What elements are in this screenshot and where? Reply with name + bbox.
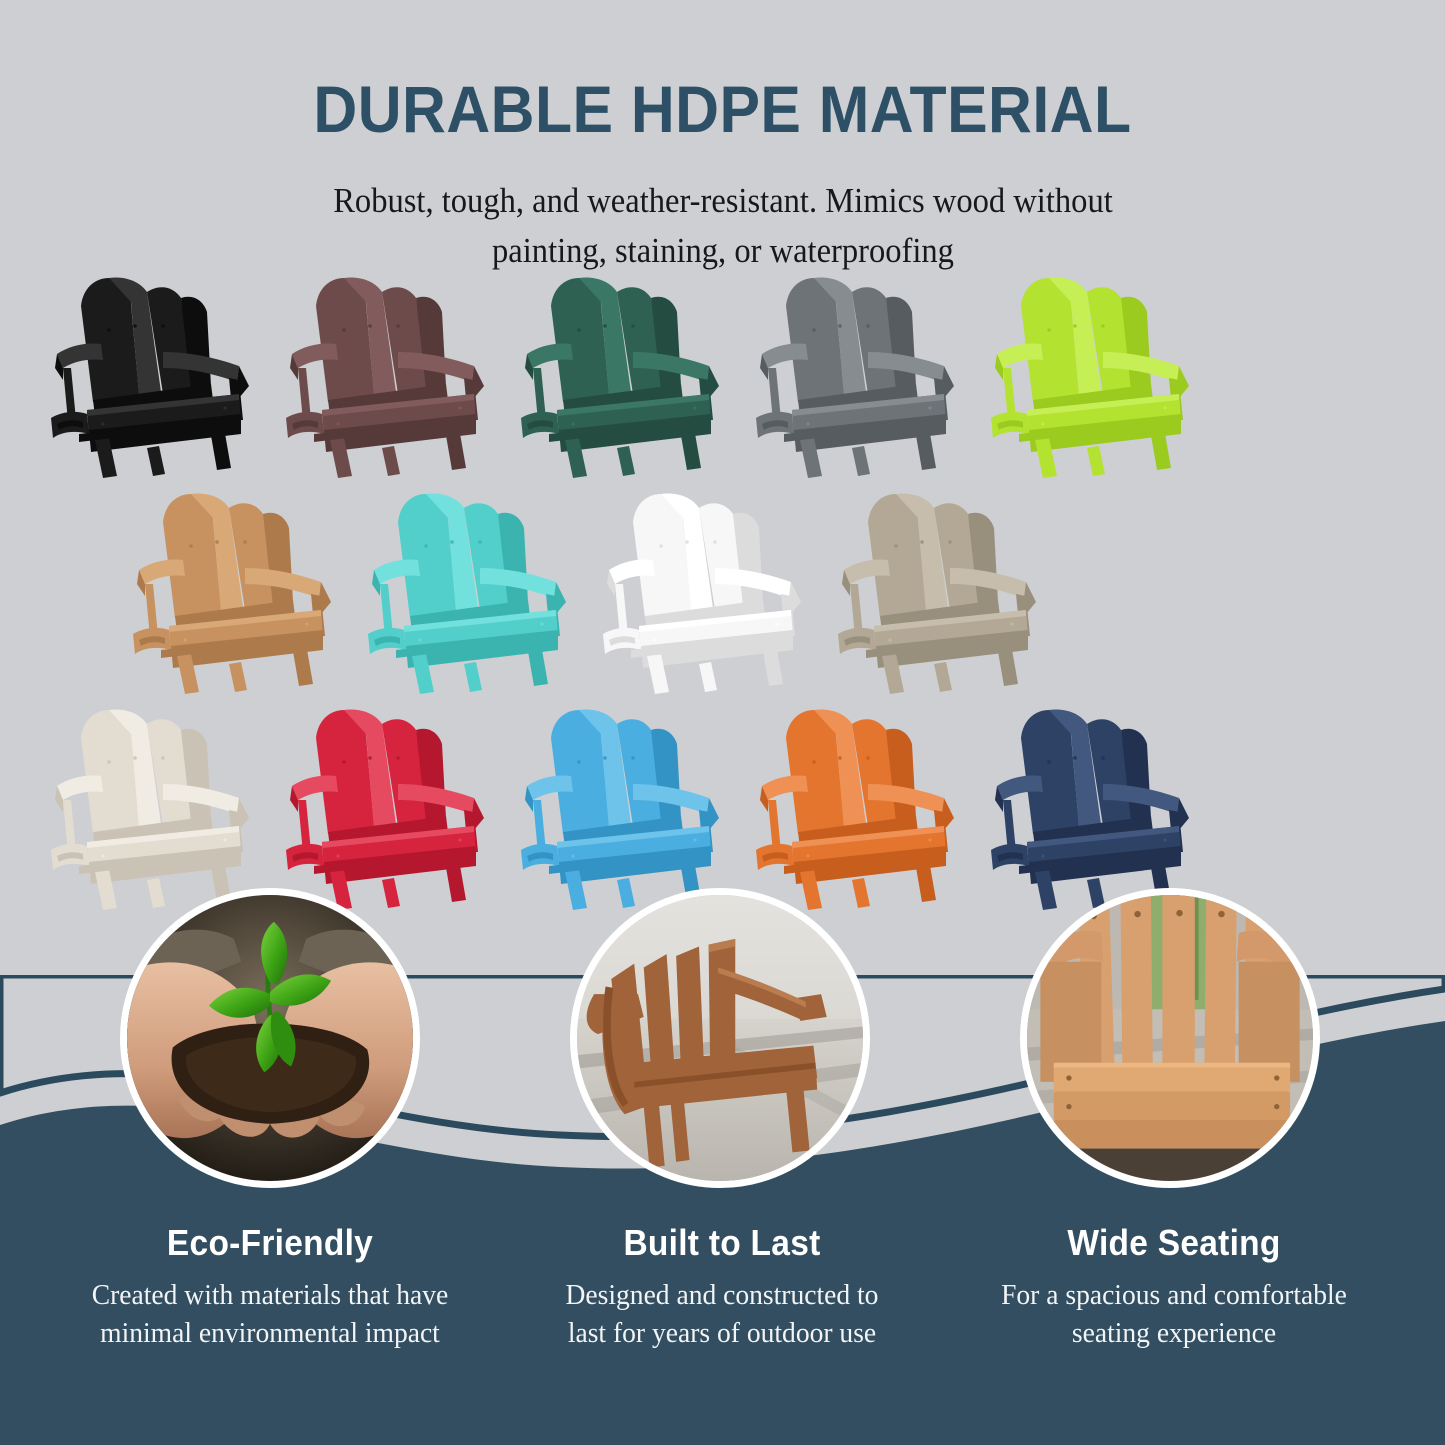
feature-description-line-2: last for years of outdoor use xyxy=(499,1314,946,1352)
infographic-canvas: DURABLE HDPE MATERIAL Robust, tough, and… xyxy=(0,0,1445,1445)
swatch-row-2 xyxy=(0,484,1445,696)
feature-title: Eco-Friendly xyxy=(51,1222,488,1264)
chair-illustration xyxy=(830,484,1045,696)
chair-illustration xyxy=(43,700,258,912)
brown-chair-photo-icon xyxy=(577,895,863,1181)
chair-swatch-navy-blue[interactable] xyxy=(983,700,1198,912)
feature-image-built-to-last xyxy=(570,888,870,1188)
feature-title: Wide Seating xyxy=(955,1222,1392,1264)
swatch-row-3 xyxy=(0,700,1445,912)
feature-title: Built to Last xyxy=(503,1222,940,1264)
chair-illustration xyxy=(125,484,340,696)
chair-illustration xyxy=(748,700,963,912)
chair-illustration xyxy=(360,484,575,696)
swatch-row-1 xyxy=(0,268,1445,480)
chair-illustration xyxy=(748,268,963,480)
feature-description-line-1: Designed and constructed to xyxy=(499,1276,946,1314)
feature-caption-row: Eco-Friendly Created with materials that… xyxy=(0,1222,1445,1422)
feature-description: Created with materials that have minimal… xyxy=(47,1276,494,1353)
page-subtitle: Robust, tough, and weather-resistant. Mi… xyxy=(253,176,1192,275)
chair-swatch-dark-green[interactable] xyxy=(513,268,728,480)
chair-swatch-ivory[interactable] xyxy=(43,700,258,912)
page-title: DURABLE HDPE MATERIAL xyxy=(58,75,1387,144)
chair-swatch-lime-green[interactable] xyxy=(983,268,1198,480)
chair-swatch-black[interactable] xyxy=(43,268,258,480)
color-swatch-grid xyxy=(0,268,1445,918)
chair-swatch-gray[interactable] xyxy=(748,268,963,480)
feature-image-eco-friendly xyxy=(120,888,420,1188)
chair-swatch-red[interactable] xyxy=(278,700,493,912)
chair-swatch-taupe[interactable] xyxy=(830,484,1045,696)
chair-swatch-white[interactable] xyxy=(595,484,810,696)
chair-illustration xyxy=(513,268,728,480)
chair-illustration xyxy=(983,268,1198,480)
feature-caption-built-to-last: Built to Last Designed and constructed t… xyxy=(487,1222,957,1353)
chair-illustration xyxy=(595,484,810,696)
wide-seat-closeup-icon xyxy=(1027,895,1313,1181)
feature-description-line-1: Created with materials that have xyxy=(47,1276,494,1314)
chair-swatch-orange[interactable] xyxy=(748,700,963,912)
feature-description-line-1: For a spacious and comfortable xyxy=(951,1276,1398,1314)
feature-description-line-2: seating experience xyxy=(951,1314,1398,1352)
feature-description: Designed and constructed to last for yea… xyxy=(499,1276,946,1353)
feature-description-line-2: minimal environmental impact xyxy=(47,1314,494,1352)
subtitle-line-1: Robust, tough, and weather-resistant. Mi… xyxy=(253,176,1192,226)
chair-swatch-teak[interactable] xyxy=(125,484,340,696)
chair-illustration xyxy=(513,700,728,912)
chair-illustration xyxy=(983,700,1198,912)
chair-illustration xyxy=(278,268,493,480)
feature-description: For a spacious and comfortable seating e… xyxy=(951,1276,1398,1353)
chair-illustration xyxy=(43,268,258,480)
feature-caption-eco-friendly: Eco-Friendly Created with materials that… xyxy=(35,1222,505,1353)
chair-swatch-light-blue[interactable] xyxy=(513,700,728,912)
chair-illustration xyxy=(278,700,493,912)
chair-swatch-turquoise[interactable] xyxy=(360,484,575,696)
feature-image-row xyxy=(0,888,1445,1228)
hands-holding-seedling-icon xyxy=(127,895,413,1181)
feature-caption-wide-seating: Wide Seating For a spacious and comforta… xyxy=(939,1222,1409,1353)
chair-swatch-brown[interactable] xyxy=(278,268,493,480)
feature-image-wide-seating xyxy=(1020,888,1320,1188)
